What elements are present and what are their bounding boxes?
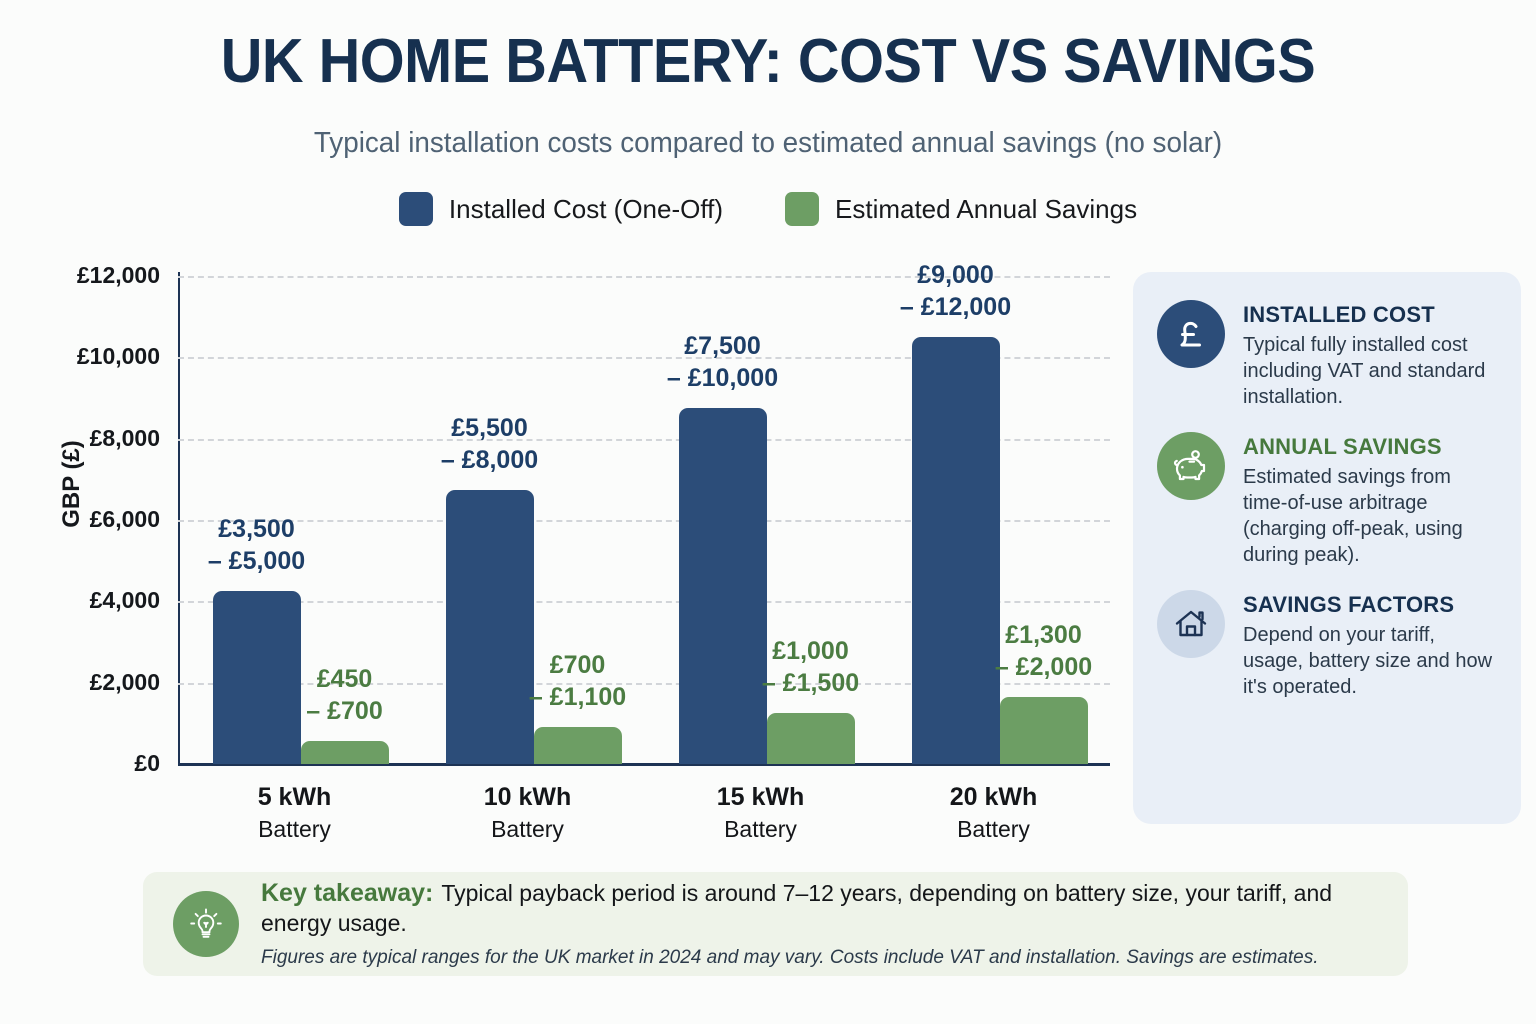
bar-value-save-1: £450 – £700 [245,663,445,727]
x-axis-label-3: 15 kWhBattery [661,782,861,844]
legend-label-installed-cost: Installed Cost (One-Off) [449,194,723,224]
bar-save-3 [767,713,855,764]
x-axis-label-2: 10 kWhBattery [428,782,628,844]
sidebar-body-annual-savings: Estimated savings from time-of-use arbit… [1243,464,1497,568]
bar-cost-3 [679,408,767,764]
y-axis-tick: £8,000 [20,427,160,450]
bar-save-2 [534,727,622,764]
bar-value-save-3: £1,000 – £1,500 [711,635,911,699]
page-title: UK HOME BATTERY: COST VS SAVINGS [54,26,1482,98]
y-axis-tick: £10,000 [20,345,160,368]
infographic-page: UK HOME BATTERY: COST VS SAVINGS Typical… [0,0,1536,1024]
house-icon [1157,590,1225,658]
key-takeaway-line: Key takeaway:Typical payback period is a… [261,878,1378,938]
bar-cost-4 [912,337,1000,764]
chart-plot-area: £3,500 – £5,000£5,500 – £8,000£7,500 – £… [178,276,1110,764]
sidebar-heading-savings-factors: SAVINGS FACTORS [1243,592,1497,618]
sidebar-card-savings-factors: SAVINGS FACTORS Depend on your tariff, u… [1157,590,1497,700]
y-axis-tick: £6,000 [20,508,160,531]
sidebar-card-annual-savings: ANNUAL SAVINGS Estimated savings from ti… [1157,432,1497,568]
key-takeaway-label: Key takeaway: [261,879,433,907]
piggy-bank-icon [1157,432,1225,500]
bar-value-cost-3: £7,500 – £10,000 [623,330,823,394]
bar-value-save-2: £700 – £1,100 [478,649,678,713]
legend-item-installed-cost: Installed Cost (One-Off) [399,192,723,226]
chart-legend: Installed Cost (One-Off) Estimated Annua… [0,192,1536,226]
bar-value-cost-4: £9,000 – £12,000 [856,259,1056,323]
key-takeaway-note: Figures are typical ranges for the UK ma… [261,945,1378,971]
sidebar-heading-annual-savings: ANNUAL SAVINGS [1243,434,1497,460]
pound-sterling-icon [1157,300,1225,368]
x-axis-label-4: 20 kWhBattery [894,782,1094,844]
bar-value-cost-1: £3,500 – £5,000 [157,513,357,577]
page-subtitle: Typical installation costs compared to e… [31,124,1506,162]
legend-item-annual-savings: Estimated Annual Savings [785,192,1137,226]
bar-cost-2 [446,490,534,765]
legend-label-annual-savings: Estimated Annual Savings [835,194,1137,224]
sidebar-heading-installed-cost: INSTALLED COST [1243,302,1497,328]
y-axis-tick: £12,000 [20,264,160,287]
sidebar-body-installed-cost: Typical fully installed cost including V… [1243,332,1497,410]
bar-save-4 [1000,697,1088,764]
key-takeaway-banner: Key takeaway:Typical payback period is a… [143,872,1408,976]
y-axis-tick: £0 [20,752,160,775]
x-axis-label-1: 5 kWhBattery [195,782,395,844]
bar-value-save-4: £1,300 – £2,000 [944,619,1144,683]
y-axis-tick: £2,000 [20,671,160,694]
bar-save-1 [301,741,389,764]
lightbulb-icon [173,891,239,957]
sidebar-body-savings-factors: Depend on your tariff, usage, battery si… [1243,622,1497,700]
legend-swatch-annual-savings [785,192,819,226]
bar-value-cost-2: £5,500 – £8,000 [390,412,590,476]
legend-swatch-installed-cost [399,192,433,226]
sidebar-card-installed-cost: INSTALLED COST Typical fully installed c… [1157,300,1497,410]
info-sidebar: INSTALLED COST Typical fully installed c… [1133,272,1521,824]
y-axis-tick: £4,000 [20,589,160,612]
